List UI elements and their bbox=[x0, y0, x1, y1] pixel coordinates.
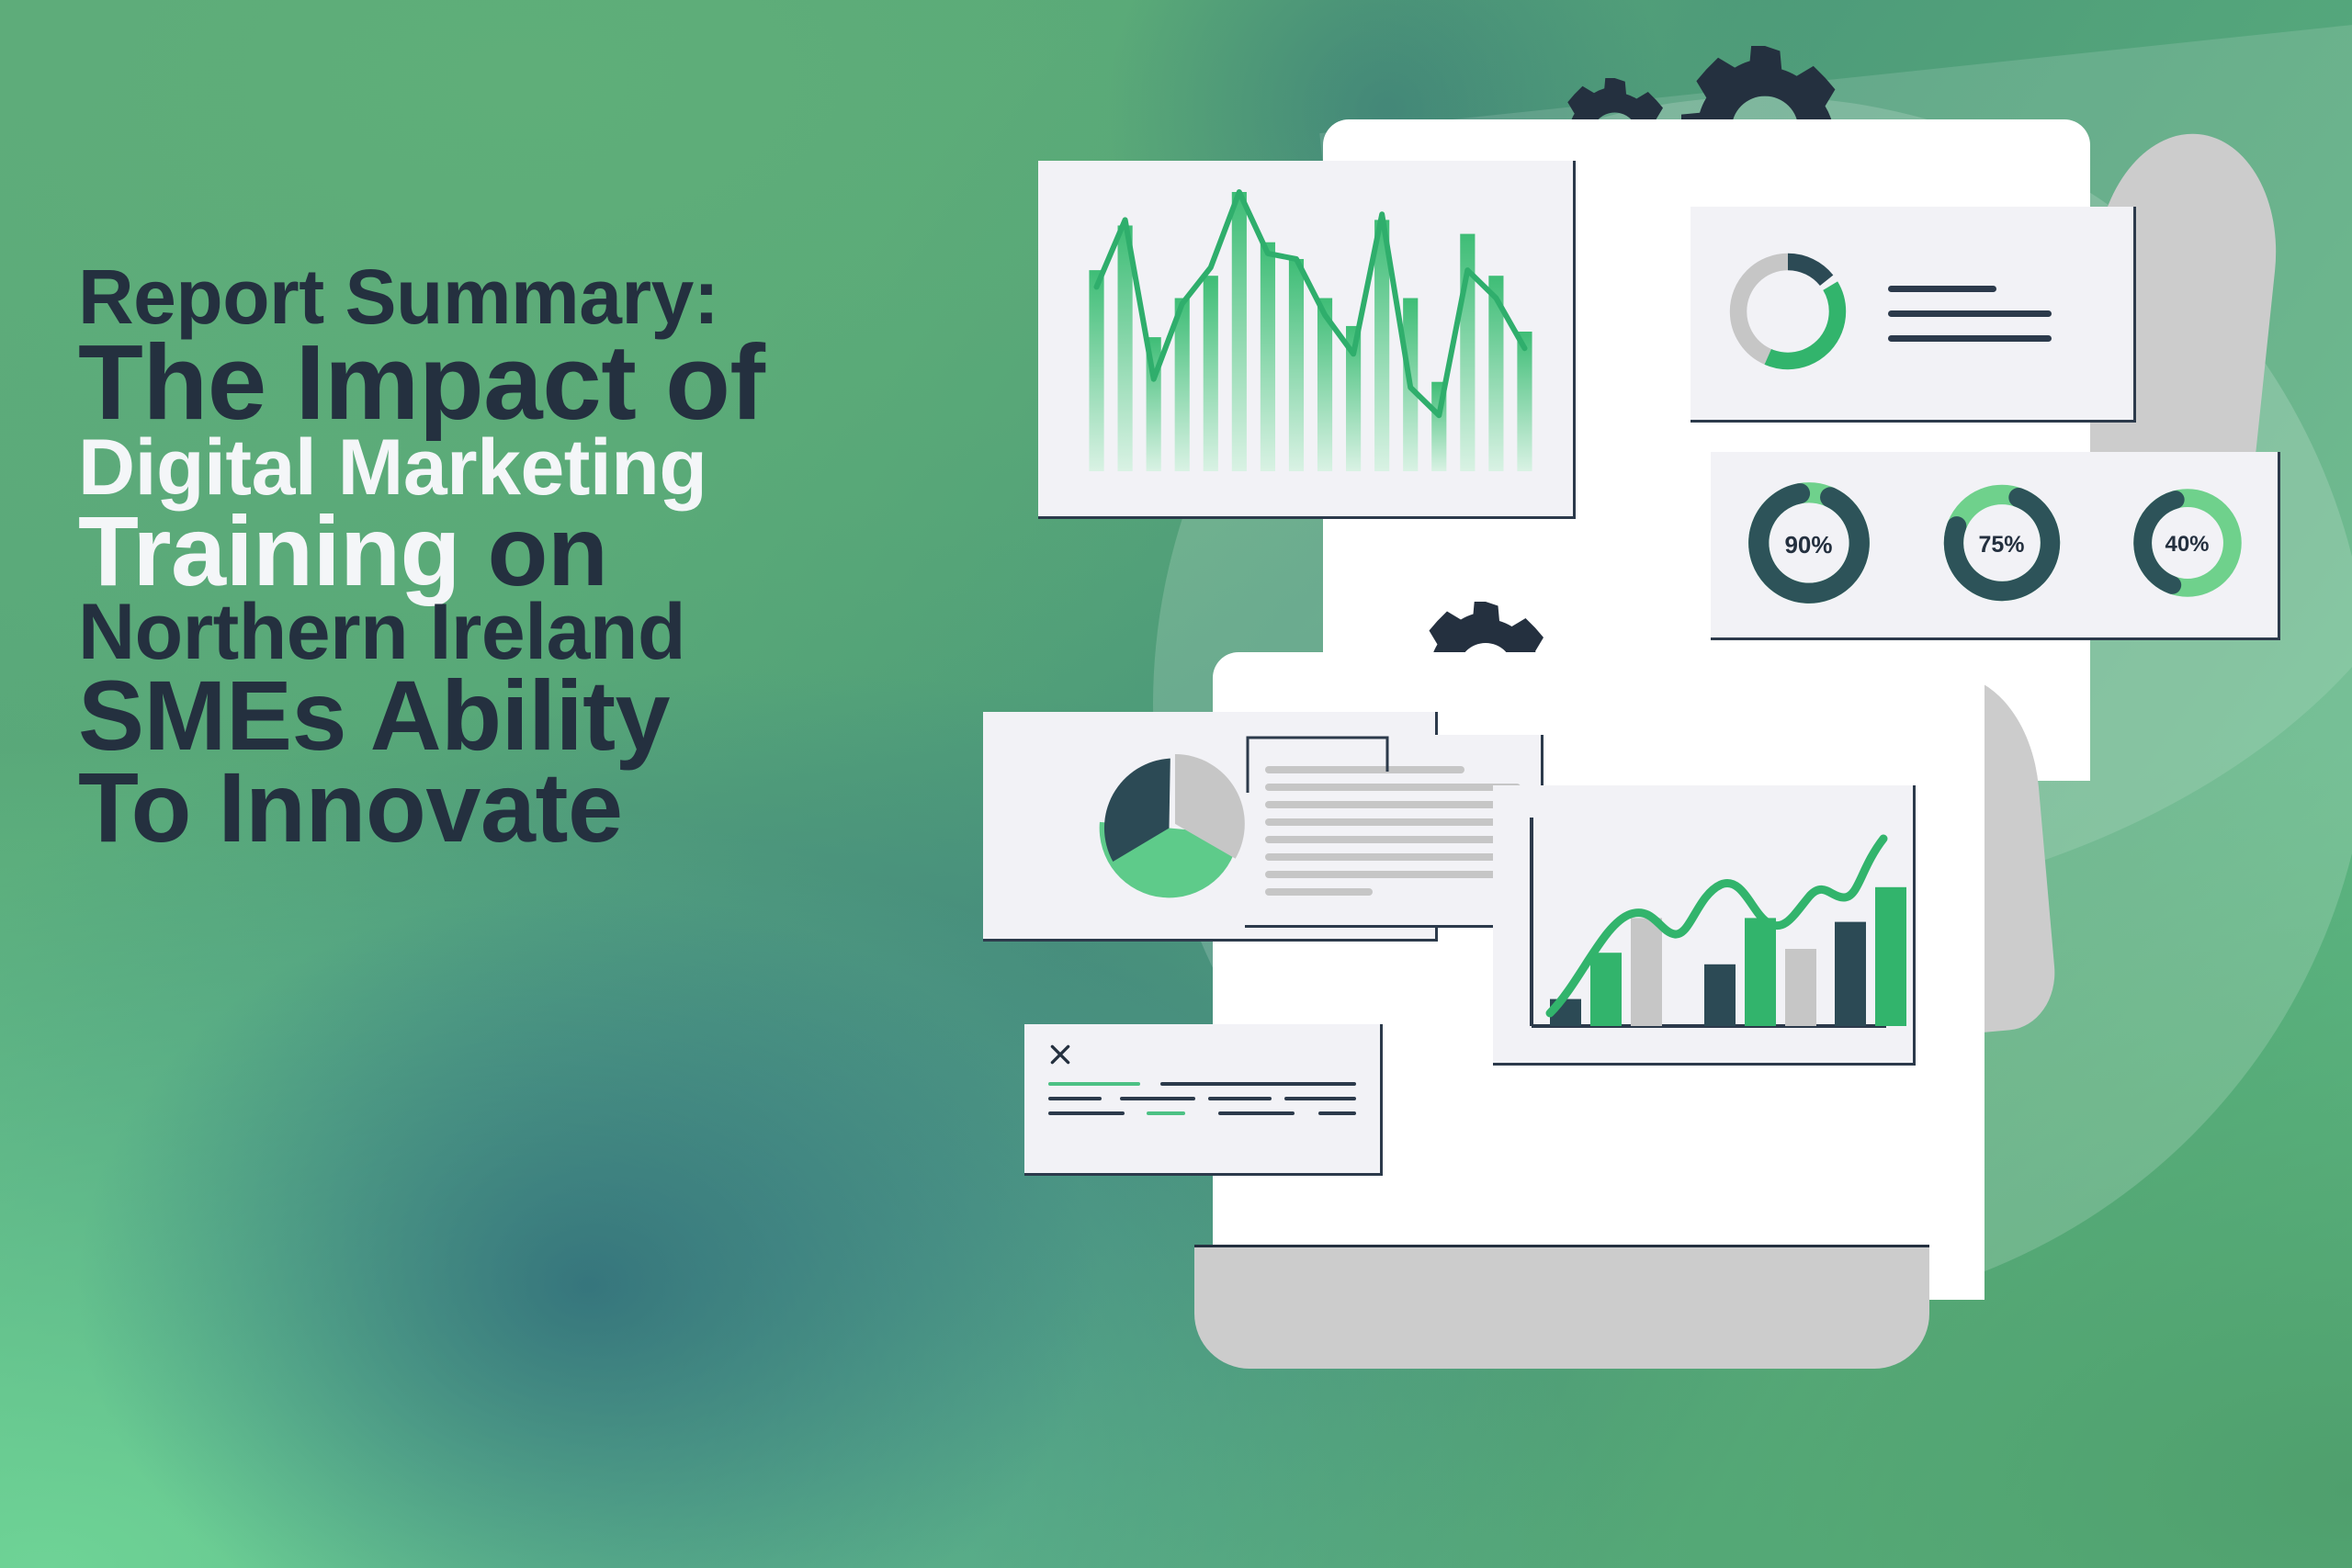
notes-segment bbox=[1147, 1111, 1185, 1115]
donut-legend-lines bbox=[1888, 286, 2052, 342]
bar-line-chart bbox=[1038, 161, 1576, 519]
card-notes[interactable] bbox=[1024, 1024, 1383, 1176]
bar bbox=[1204, 276, 1218, 471]
notes-row bbox=[1048, 1097, 1356, 1100]
bar bbox=[1089, 270, 1103, 471]
notes-row bbox=[1048, 1082, 1356, 1086]
notes-segment bbox=[1218, 1111, 1295, 1115]
text-line bbox=[1265, 888, 1373, 896]
notes-segment bbox=[1318, 1111, 1357, 1115]
bar bbox=[1631, 918, 1662, 1026]
text-line bbox=[1265, 801, 1521, 808]
text-line bbox=[1265, 818, 1521, 826]
notes-row bbox=[1048, 1111, 1356, 1115]
grouped-bar-chart bbox=[1493, 785, 1916, 1066]
bar bbox=[1261, 243, 1275, 471]
notes-segment bbox=[1284, 1097, 1356, 1100]
dashboard-illustration: 90% 75% 40% bbox=[1057, 101, 2352, 1387]
bar bbox=[1289, 259, 1304, 471]
gauge-label-40: 40% bbox=[2127, 482, 2248, 608]
pie-callout-connector bbox=[1245, 735, 1392, 792]
gauge-90: 90% bbox=[1741, 475, 1877, 615]
notes-segment bbox=[1048, 1097, 1102, 1100]
title-line-4: Training on bbox=[78, 505, 1116, 597]
legend-line bbox=[1888, 310, 2052, 317]
card-donut-summary[interactable] bbox=[1690, 207, 2136, 423]
bar bbox=[1835, 922, 1866, 1026]
notes-segment bbox=[1048, 1082, 1140, 1086]
close-icon[interactable] bbox=[1048, 1043, 1356, 1071]
notes-segment bbox=[1048, 1111, 1125, 1115]
title-line-2: The Impact of bbox=[78, 333, 1116, 432]
panel-base-gray bbox=[1194, 1245, 1929, 1369]
donut-chart bbox=[1723, 246, 1853, 381]
gauge-label-75: 75% bbox=[1937, 478, 2067, 613]
notes-segment bbox=[1160, 1082, 1356, 1086]
bar bbox=[1875, 887, 1906, 1026]
bar bbox=[1517, 332, 1532, 471]
title-line-7: To Innovate bbox=[78, 761, 1116, 853]
legend-line bbox=[1888, 335, 2052, 342]
title-line-6: SMEs Ability bbox=[78, 670, 1116, 761]
bar bbox=[1590, 953, 1622, 1026]
gauge-label-90: 90% bbox=[1741, 475, 1877, 615]
card-bar-line-chart[interactable] bbox=[1038, 161, 1576, 519]
pie-chart bbox=[1084, 743, 1254, 913]
bar bbox=[1704, 964, 1736, 1026]
notes-line-rows bbox=[1048, 1082, 1356, 1115]
card-grouped-bar-chart[interactable] bbox=[1493, 785, 1916, 1066]
page-title: Report Summary: The Impact of Digital Ma… bbox=[78, 262, 1116, 853]
bar bbox=[1745, 918, 1776, 1026]
gauge-40: 40% bbox=[2127, 482, 2248, 608]
card-gauges[interactable]: 90% 75% 40% bbox=[1711, 452, 2280, 640]
text-line bbox=[1265, 853, 1521, 861]
legend-line bbox=[1888, 286, 1996, 292]
text-line bbox=[1265, 871, 1521, 878]
bar bbox=[1232, 192, 1247, 471]
bar bbox=[1785, 949, 1816, 1026]
notes-segment bbox=[1120, 1097, 1195, 1100]
notes-segment bbox=[1208, 1097, 1272, 1100]
text-line bbox=[1265, 836, 1521, 843]
gauge-75: 75% bbox=[1937, 478, 2067, 613]
